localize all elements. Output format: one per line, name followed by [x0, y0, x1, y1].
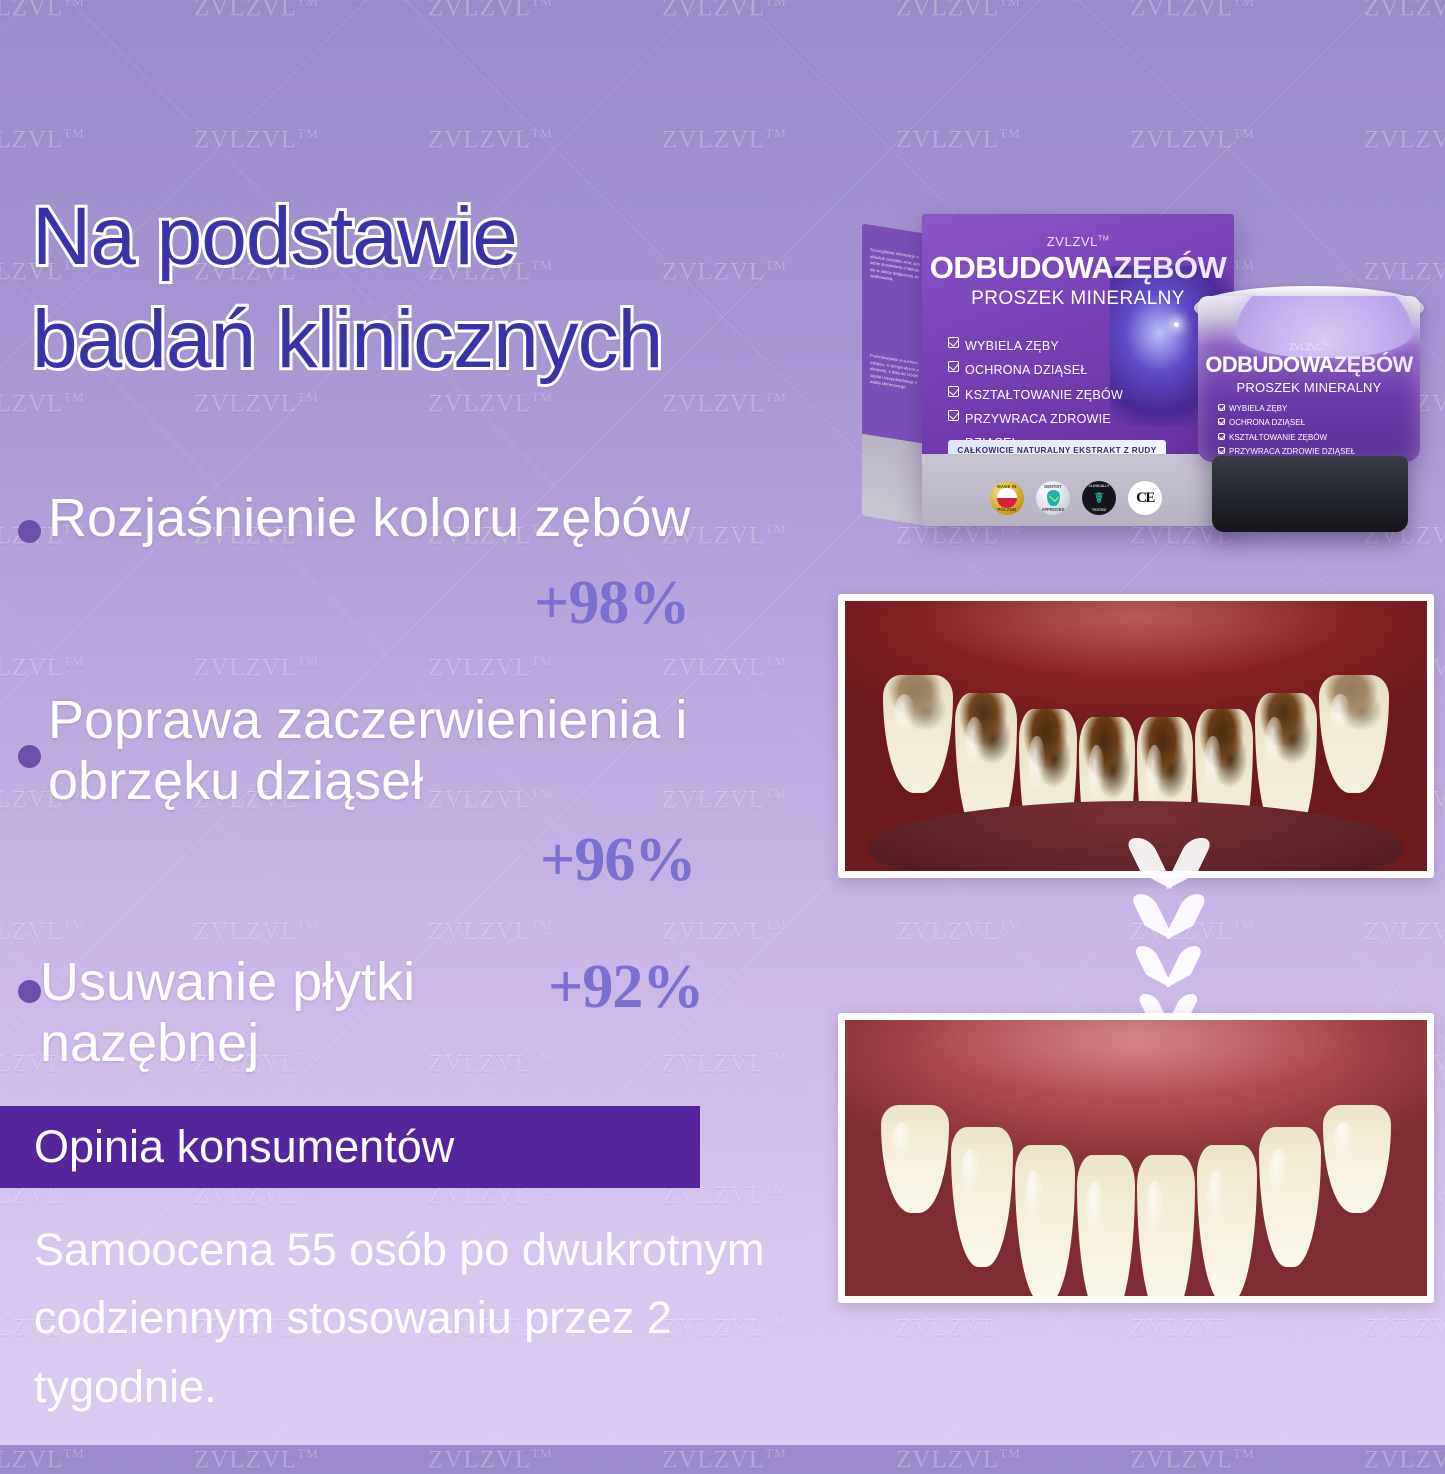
checkbox-icon	[948, 337, 959, 348]
watermark: ZVLZVLTM	[896, 918, 1021, 946]
feature-item: KSZTAŁTOWANIE ZĘBÓW	[948, 383, 1138, 407]
poland-flag-icon	[997, 488, 1017, 508]
watermark: ZVLZVLTM	[194, 126, 319, 154]
feature-item: KSZTAŁTOWANIE ZĘBÓW	[1218, 431, 1368, 445]
feature-item: WYBIELA ZĘBY	[948, 334, 1138, 358]
watermark: ZVLZVLTM	[662, 1446, 787, 1474]
tooth	[881, 1105, 949, 1213]
tooth-gloss	[1086, 1181, 1103, 1237]
watermark: ZVLZVLTM	[428, 0, 553, 22]
before-photo	[838, 594, 1434, 878]
watermark: ZVLZVLTM	[428, 918, 553, 946]
tooth-gloss	[892, 1122, 912, 1159]
benefit-value-3: +92%	[548, 952, 703, 1023]
headline-line-1: Na podstawie	[32, 191, 517, 282]
consumer-opinion-band: Opinia konsumentów	[0, 1106, 700, 1188]
watermark: ZVLZVLTM	[896, 126, 1021, 154]
feature-label: KSZTAŁTOWANIE ZĘBÓW	[965, 383, 1123, 407]
watermark: ZVLZVLTM	[428, 390, 553, 418]
feature-item: OCHRONA DZIĄSEŁ	[948, 358, 1138, 382]
watermark: ZVLZVLTM	[0, 0, 85, 22]
tooth	[1137, 1155, 1195, 1303]
tooth-gloss	[1265, 717, 1284, 768]
watermark: ZVLZVLTM	[1364, 0, 1445, 22]
after-mouth-image	[845, 1020, 1427, 1296]
benefit-label-3: Usuwanie płytki nazębnej	[40, 952, 560, 1074]
tooth-gloss	[1146, 745, 1163, 803]
product-feature-list: WYBIELA ZĘBY OCHRONA DZIĄSEŁ KSZTAŁTOWAN…	[948, 334, 1138, 455]
tooth-gloss	[1028, 736, 1045, 792]
caduceus-icon: ☤	[1094, 491, 1104, 506]
watermark: ZVLZVLTM	[1364, 918, 1445, 946]
benefit-label-1: Rozjaśnienie koloru zębów	[48, 488, 828, 549]
watermark: ZVLZVLTM	[662, 1050, 787, 1078]
box-side-text-2: Przechowywać w suchym miejscu, w tempera…	[870, 353, 920, 445]
tooth	[1197, 1145, 1257, 1303]
watermark: ZVLZVLTM	[896, 1314, 1021, 1342]
checkbox-icon	[948, 410, 959, 421]
watermark: ZVLZVLTM	[428, 654, 553, 682]
watermark: ZVLZVLTM	[0, 126, 85, 154]
transition-arrows	[1078, 838, 1248, 1038]
product-jar: ZVLZVLTM ODBUDOWAZĘBÓW PROSZEK MINERALNY…	[1184, 268, 1436, 552]
tooth-gloss	[1334, 1122, 1354, 1159]
ce-mark-icon: CE	[1128, 481, 1162, 515]
product-title-part1: ODBUDOWA	[930, 250, 1114, 285]
watermark: ZVLZVLTM	[662, 126, 787, 154]
trademark-symbol: TM	[1098, 236, 1109, 243]
benefit-value-2: +96%	[540, 825, 695, 896]
watermark: ZVLZVLTM	[194, 918, 319, 946]
watermark: ZVLZVLTM	[0, 1446, 85, 1474]
tooth-gloss	[965, 717, 984, 768]
tooth-gloss	[1025, 1170, 1043, 1224]
chevron-down-icon	[1128, 946, 1198, 990]
tooth-gloss	[1204, 736, 1221, 792]
checkbox-icon	[948, 386, 959, 397]
benefit-label-2: Poprawa zaczerwienienia i obrzęku dziąse…	[48, 690, 838, 812]
feature-label: OCHRONA DZIĄSEŁ	[965, 358, 1088, 382]
tooth-gloss	[1088, 745, 1105, 803]
watermark: ZVLZVLTM	[0, 654, 85, 682]
jar-body: ZVLZVLTM ODBUDOWAZĘBÓW PROSZEK MINERALNY…	[1198, 296, 1420, 462]
tooth-gloss	[1207, 1170, 1225, 1224]
watermark: ZVLZVLTM	[1130, 126, 1255, 154]
box-side-text-1: Szczegółowe informacje o składzie produk…	[870, 247, 920, 327]
watermark: ZVLZVLTM	[1364, 1446, 1445, 1474]
tooth-gloss	[1146, 1181, 1163, 1237]
watermark: ZVLZVLTM	[1130, 1314, 1255, 1342]
watermark: ZVLZVLTM	[1130, 0, 1255, 22]
watermark: ZVLZVLTM	[194, 390, 319, 418]
watermark: ZVLZVLTM	[662, 390, 787, 418]
tooth	[1323, 1105, 1391, 1213]
checkbox-icon	[1218, 418, 1225, 425]
after-photo	[838, 1013, 1434, 1303]
watermark: ZVLZVLTM	[1364, 1314, 1445, 1342]
headline-line-2: badań klinicznych	[32, 294, 662, 385]
dentist-approved-icon: DENTIST APPROVED	[1036, 481, 1070, 515]
tooth-gloss	[1269, 1149, 1288, 1197]
before-mouth-image	[845, 601, 1427, 871]
tooth	[883, 675, 953, 793]
feature-label: WYBIELA ZĘBY	[965, 334, 1059, 358]
jar-brand: ZVLZVLTM	[1198, 342, 1420, 352]
feature-item: WYBIELA ZĘBY	[1218, 402, 1368, 416]
bullet-dot-1	[18, 520, 41, 543]
watermark: ZVLZVLTM	[662, 918, 787, 946]
tooth	[951, 1127, 1013, 1267]
consumer-opinion-label: Opinia konsumentów	[0, 1121, 454, 1173]
watermark: ZVLZVLTM	[662, 654, 787, 682]
product-brand-text: ZVLZVL	[1047, 234, 1098, 249]
watermark: ZVLZVLTM	[428, 126, 553, 154]
after-teeth-row	[845, 1103, 1427, 1303]
tooth	[1077, 1155, 1135, 1303]
watermark: ZVLZVLTM	[1130, 1446, 1255, 1474]
tooth-gloss	[961, 1149, 980, 1197]
feature-item: OCHRONA DZIĄSEŁ	[1218, 416, 1368, 430]
checkbox-icon	[1218, 404, 1225, 411]
checkbox-icon	[1218, 447, 1225, 454]
tooth-icon	[1047, 490, 1060, 506]
jar-lid	[1212, 456, 1408, 532]
watermark: ZVLZVLTM	[0, 918, 85, 946]
checkbox-icon	[1218, 433, 1225, 440]
tooth	[1015, 1145, 1075, 1303]
made-in-poland-icon: MADE IN POLAND	[990, 481, 1024, 515]
product-brand: ZVLZVLTM	[922, 234, 1234, 249]
jar-feature-list: WYBIELA ZĘBY OCHRONA DZIĄSEŁ KSZTAŁTOWAN…	[1218, 402, 1368, 460]
watermark: ZVLZVLTM	[0, 390, 85, 418]
consumer-opinion-note: Samoocena 55 osób po dwukrotnym codzienn…	[34, 1216, 774, 1421]
bullet-dot-3	[18, 980, 41, 1003]
tooth	[1259, 1127, 1321, 1267]
benefit-value-1: +98%	[534, 568, 689, 639]
watermark: ZVLZVLTM	[428, 1446, 553, 1474]
page-title: Na podstawie badań klinicznych	[32, 186, 912, 391]
watermark: ZVLZVLTM	[194, 0, 319, 22]
watermark: ZVLZVLTM	[194, 654, 319, 682]
product-image: Szczegółowe informacje o składzie produk…	[862, 196, 1437, 556]
watermark: ZVLZVLTM	[662, 0, 787, 22]
bullet-dot-2	[18, 745, 41, 768]
watermark: ZVLZVLTM	[1364, 126, 1445, 154]
watermark: ZVLZVLTM	[896, 0, 1021, 22]
jar-subtitle: PROSZEK MINERALNY	[1198, 380, 1420, 395]
watermark: ZVLZVLTM	[896, 1446, 1021, 1474]
jar-title: ODBUDOWAZĘBÓW	[1198, 354, 1420, 376]
clinically-tested-icon: CLINICALLY ☤ TESTED	[1082, 481, 1116, 515]
product-box-side-panel: Szczegółowe informacje o składzie produk…	[862, 224, 928, 526]
checkbox-icon	[948, 361, 959, 372]
chevron-down-icon	[1119, 838, 1207, 892]
watermark: ZVLZVLTM	[194, 1446, 319, 1474]
sparkle-icon	[1174, 322, 1179, 327]
chevron-down-icon	[1124, 894, 1202, 942]
tooth	[1319, 675, 1389, 793]
